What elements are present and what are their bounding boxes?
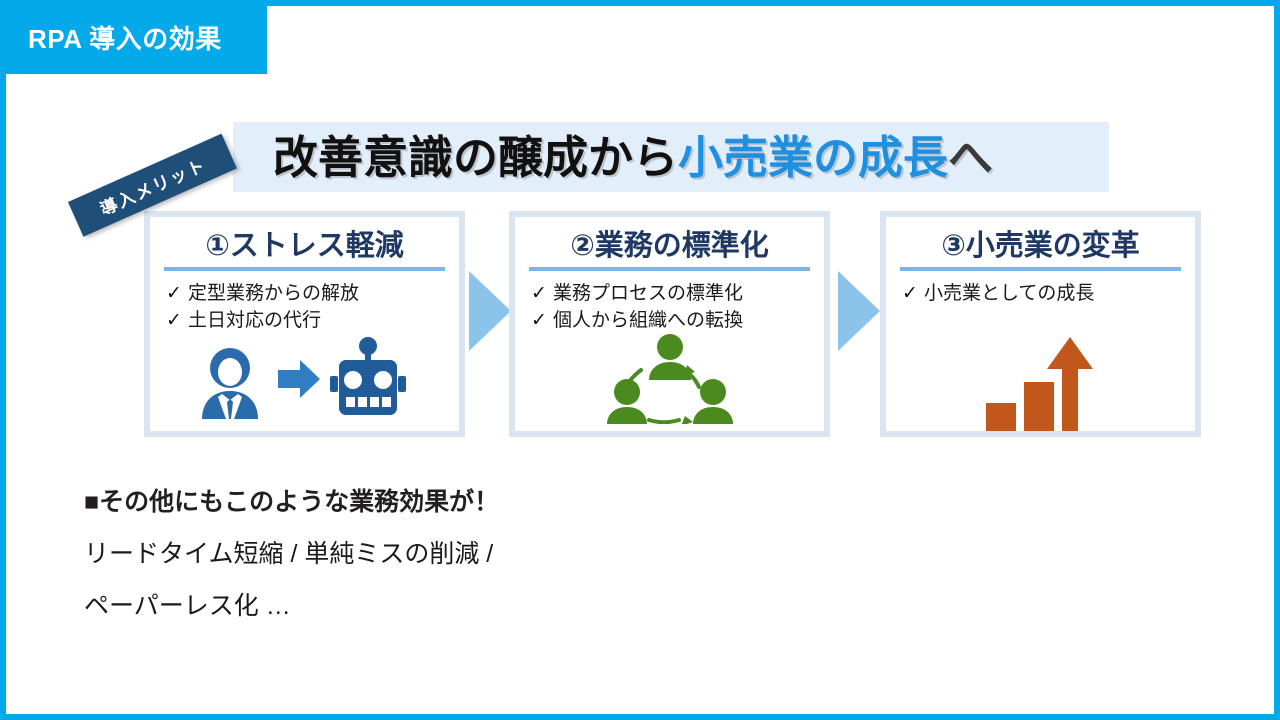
page-title: RPA 導入の効果	[28, 19, 222, 56]
card-3-icon-area	[886, 333, 1195, 425]
benefit-card-retail-transformation[interactable]: ③小売業の変革 ✓ 小売業としての成長	[880, 211, 1201, 437]
card-2-underline	[529, 267, 810, 271]
main-title-part-tail: へ	[948, 132, 993, 183]
card-1-bullet-list: ✓ 定型業務からの解放 ✓ 土日対応の代行	[166, 280, 459, 335]
person-to-robot-icon	[200, 336, 410, 422]
card-3-underline	[900, 267, 1181, 271]
slide-canvas: RPA 導入の効果 改善意識の醸成から小売業の成長へ 導入メリット ①ストレス軽…	[0, 0, 1280, 720]
card-1-heading: ①ストレス軽減	[162, 231, 447, 263]
list-item: ✓ 業務プロセスの標準化	[531, 280, 824, 308]
list-item-label: 業務プロセスの標準化	[553, 280, 743, 308]
check-icon: ✓	[531, 307, 553, 335]
list-item: ✓ 定型業務からの解放	[166, 280, 459, 308]
card-1-icon-area	[150, 333, 459, 425]
list-item-label: 個人から組織への転換	[553, 307, 743, 335]
main-title-band: 改善意識の醸成から小売業の成長へ	[233, 122, 1109, 192]
list-item: ✓ 個人から組織への転換	[531, 307, 824, 335]
notes-line-3: ペーパーレス化 …	[84, 580, 784, 632]
list-item-label: 定型業務からの解放	[188, 280, 359, 308]
growth-arrow-chart-icon	[978, 325, 1104, 433]
connector-arrow-2	[838, 271, 880, 351]
list-item: ✓ 小売業としての成長	[902, 280, 1195, 308]
check-icon: ✓	[166, 307, 188, 335]
card-3-heading: ③小売業の変革	[898, 231, 1183, 263]
benefit-card-stress-reduction[interactable]: ①ストレス軽減 ✓ 定型業務からの解放 ✓ 土日対応の代行	[144, 211, 465, 437]
card-3-bullet-list: ✓ 小売業としての成長	[902, 280, 1195, 308]
main-title: 改善意識の醸成から小売業の成長へ	[273, 135, 993, 180]
check-icon: ✓	[166, 280, 188, 308]
card-2-bullet-list: ✓ 業務プロセスの標準化 ✓ 個人から組織への転換	[531, 280, 824, 335]
list-item-label: 土日対応の代行	[188, 307, 321, 335]
benefit-card-standardization[interactable]: ②業務の標準化 ✓ 業務プロセスの標準化 ✓ 個人から組織への転換	[509, 211, 830, 437]
header-tab: RPA 導入の効果	[0, 0, 267, 74]
main-title-part-black: 改善意識の醸成から	[273, 132, 678, 183]
card-2-icon-area	[515, 333, 824, 425]
card-1-underline	[164, 267, 445, 271]
check-icon: ✓	[531, 280, 553, 308]
other-effects-notes: ■その他にもこのような業務効果が！ リードタイム短縮 / 単純ミスの削減 / ペ…	[84, 476, 784, 632]
merit-ribbon-label: 導入メリット	[95, 151, 209, 220]
notes-line-1: ■その他にもこのような業務効果が！	[84, 476, 784, 528]
people-cycle-icon	[607, 334, 733, 424]
card-2-heading: ②業務の標準化	[527, 231, 812, 263]
list-item: ✓ 土日対応の代行	[166, 307, 459, 335]
list-item-label: 小売業としての成長	[924, 280, 1094, 308]
check-icon: ✓	[902, 280, 924, 308]
connector-arrow-1	[469, 271, 511, 351]
notes-line-2: リードタイム短縮 / 単純ミスの削減 /	[84, 528, 784, 580]
main-title-part-highlight: 小売業の成長	[678, 132, 948, 183]
